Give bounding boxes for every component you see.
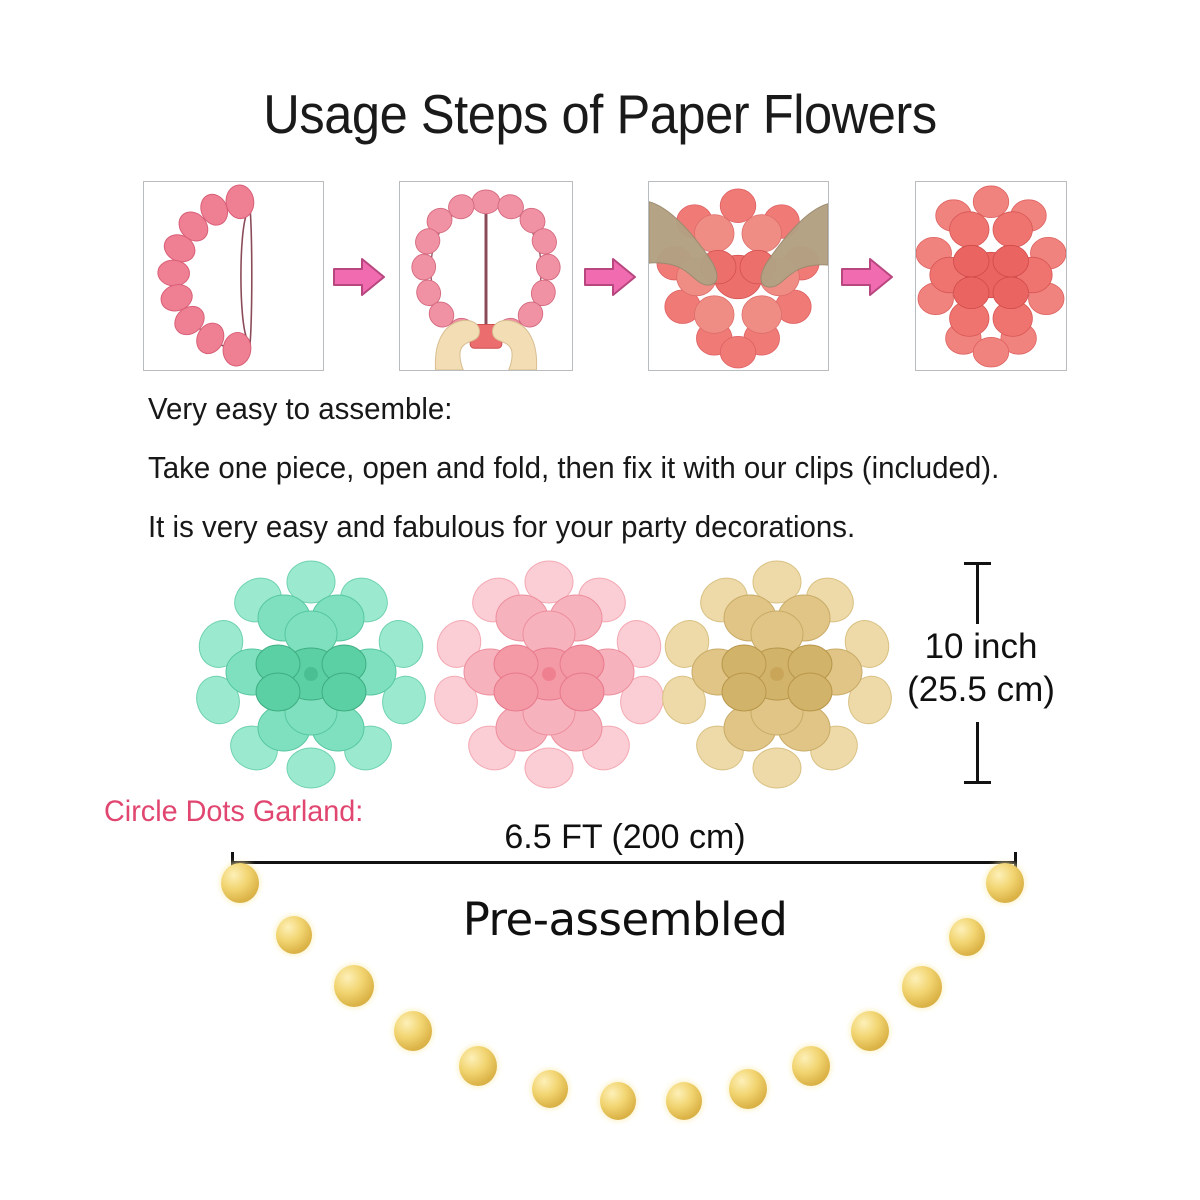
garland-dot — [986, 863, 1024, 903]
garland-dot — [600, 1082, 636, 1120]
instructions-heading: Very easy to assemble: — [148, 390, 1003, 427]
garland-dot — [902, 966, 942, 1008]
pom-pom-light-pink — [434, 560, 664, 790]
arrow-right-icon-3 — [840, 257, 894, 297]
garland-length-label: 6.5 FT (200 cm) — [400, 818, 850, 856]
pom-pom-color-row — [196, 560, 906, 790]
step-4-image — [915, 181, 1067, 371]
page-title: Usage Steps of Paper Flowers — [48, 84, 1152, 144]
arrow-glyph — [583, 257, 637, 297]
pom-pom-shape — [434, 560, 664, 790]
garland-dot — [949, 918, 985, 956]
fluffing-pom-pom-with-hands-icon — [649, 182, 828, 370]
garland-dot — [532, 1070, 568, 1108]
garland-dot — [276, 916, 312, 954]
pom-pom-gold — [662, 560, 892, 790]
size-callout-centimeters: (25.5 cm) — [886, 668, 1076, 711]
pom-pom-mint-green — [196, 560, 426, 790]
pom-pom-shape — [196, 560, 426, 790]
garland-dot — [221, 863, 259, 903]
instructions-line-1: Take one piece, open and fold, then fix … — [148, 449, 1003, 486]
garland-label: Circle Dots Garland: — [104, 794, 363, 830]
step-1-image — [143, 181, 324, 371]
pom-pom-shape — [662, 560, 892, 790]
dimension-cap-top — [964, 562, 991, 565]
dimension-cap-bottom — [964, 781, 991, 784]
garland-dot — [851, 1011, 889, 1051]
instructions-block: Very easy to assemble: Take one piece, o… — [148, 390, 1003, 567]
usage-steps-strip — [140, 181, 1070, 373]
product-infographic: Usage Steps of Paper Flowers — [0, 0, 1200, 1200]
step-3-image — [648, 181, 829, 371]
arrow-right-icon-1 — [332, 257, 386, 297]
garland-dot — [394, 1011, 432, 1051]
instructions-line-2: It is very easy and fabulous for your pa… — [148, 508, 1003, 545]
folded-paper-half-circle-icon — [144, 182, 323, 370]
arrow-glyph — [840, 257, 894, 297]
garland-dot — [666, 1082, 702, 1120]
size-callout: 10 inch (25.5 cm) — [886, 625, 1076, 711]
paper-ring-with-hands-icon — [400, 182, 572, 370]
garland-dot — [792, 1046, 830, 1086]
garland-dot — [729, 1069, 767, 1109]
pre-assembled-label: Pre-assembled — [350, 893, 900, 947]
size-callout-inches: 10 inch — [886, 625, 1076, 668]
garland-dot — [334, 965, 374, 1007]
finished-pom-pom-icon — [916, 182, 1066, 370]
arrow-right-icon-2 — [583, 257, 637, 297]
garland-dot — [459, 1046, 497, 1086]
step-2-image — [399, 181, 573, 371]
arrow-glyph — [332, 257, 386, 297]
